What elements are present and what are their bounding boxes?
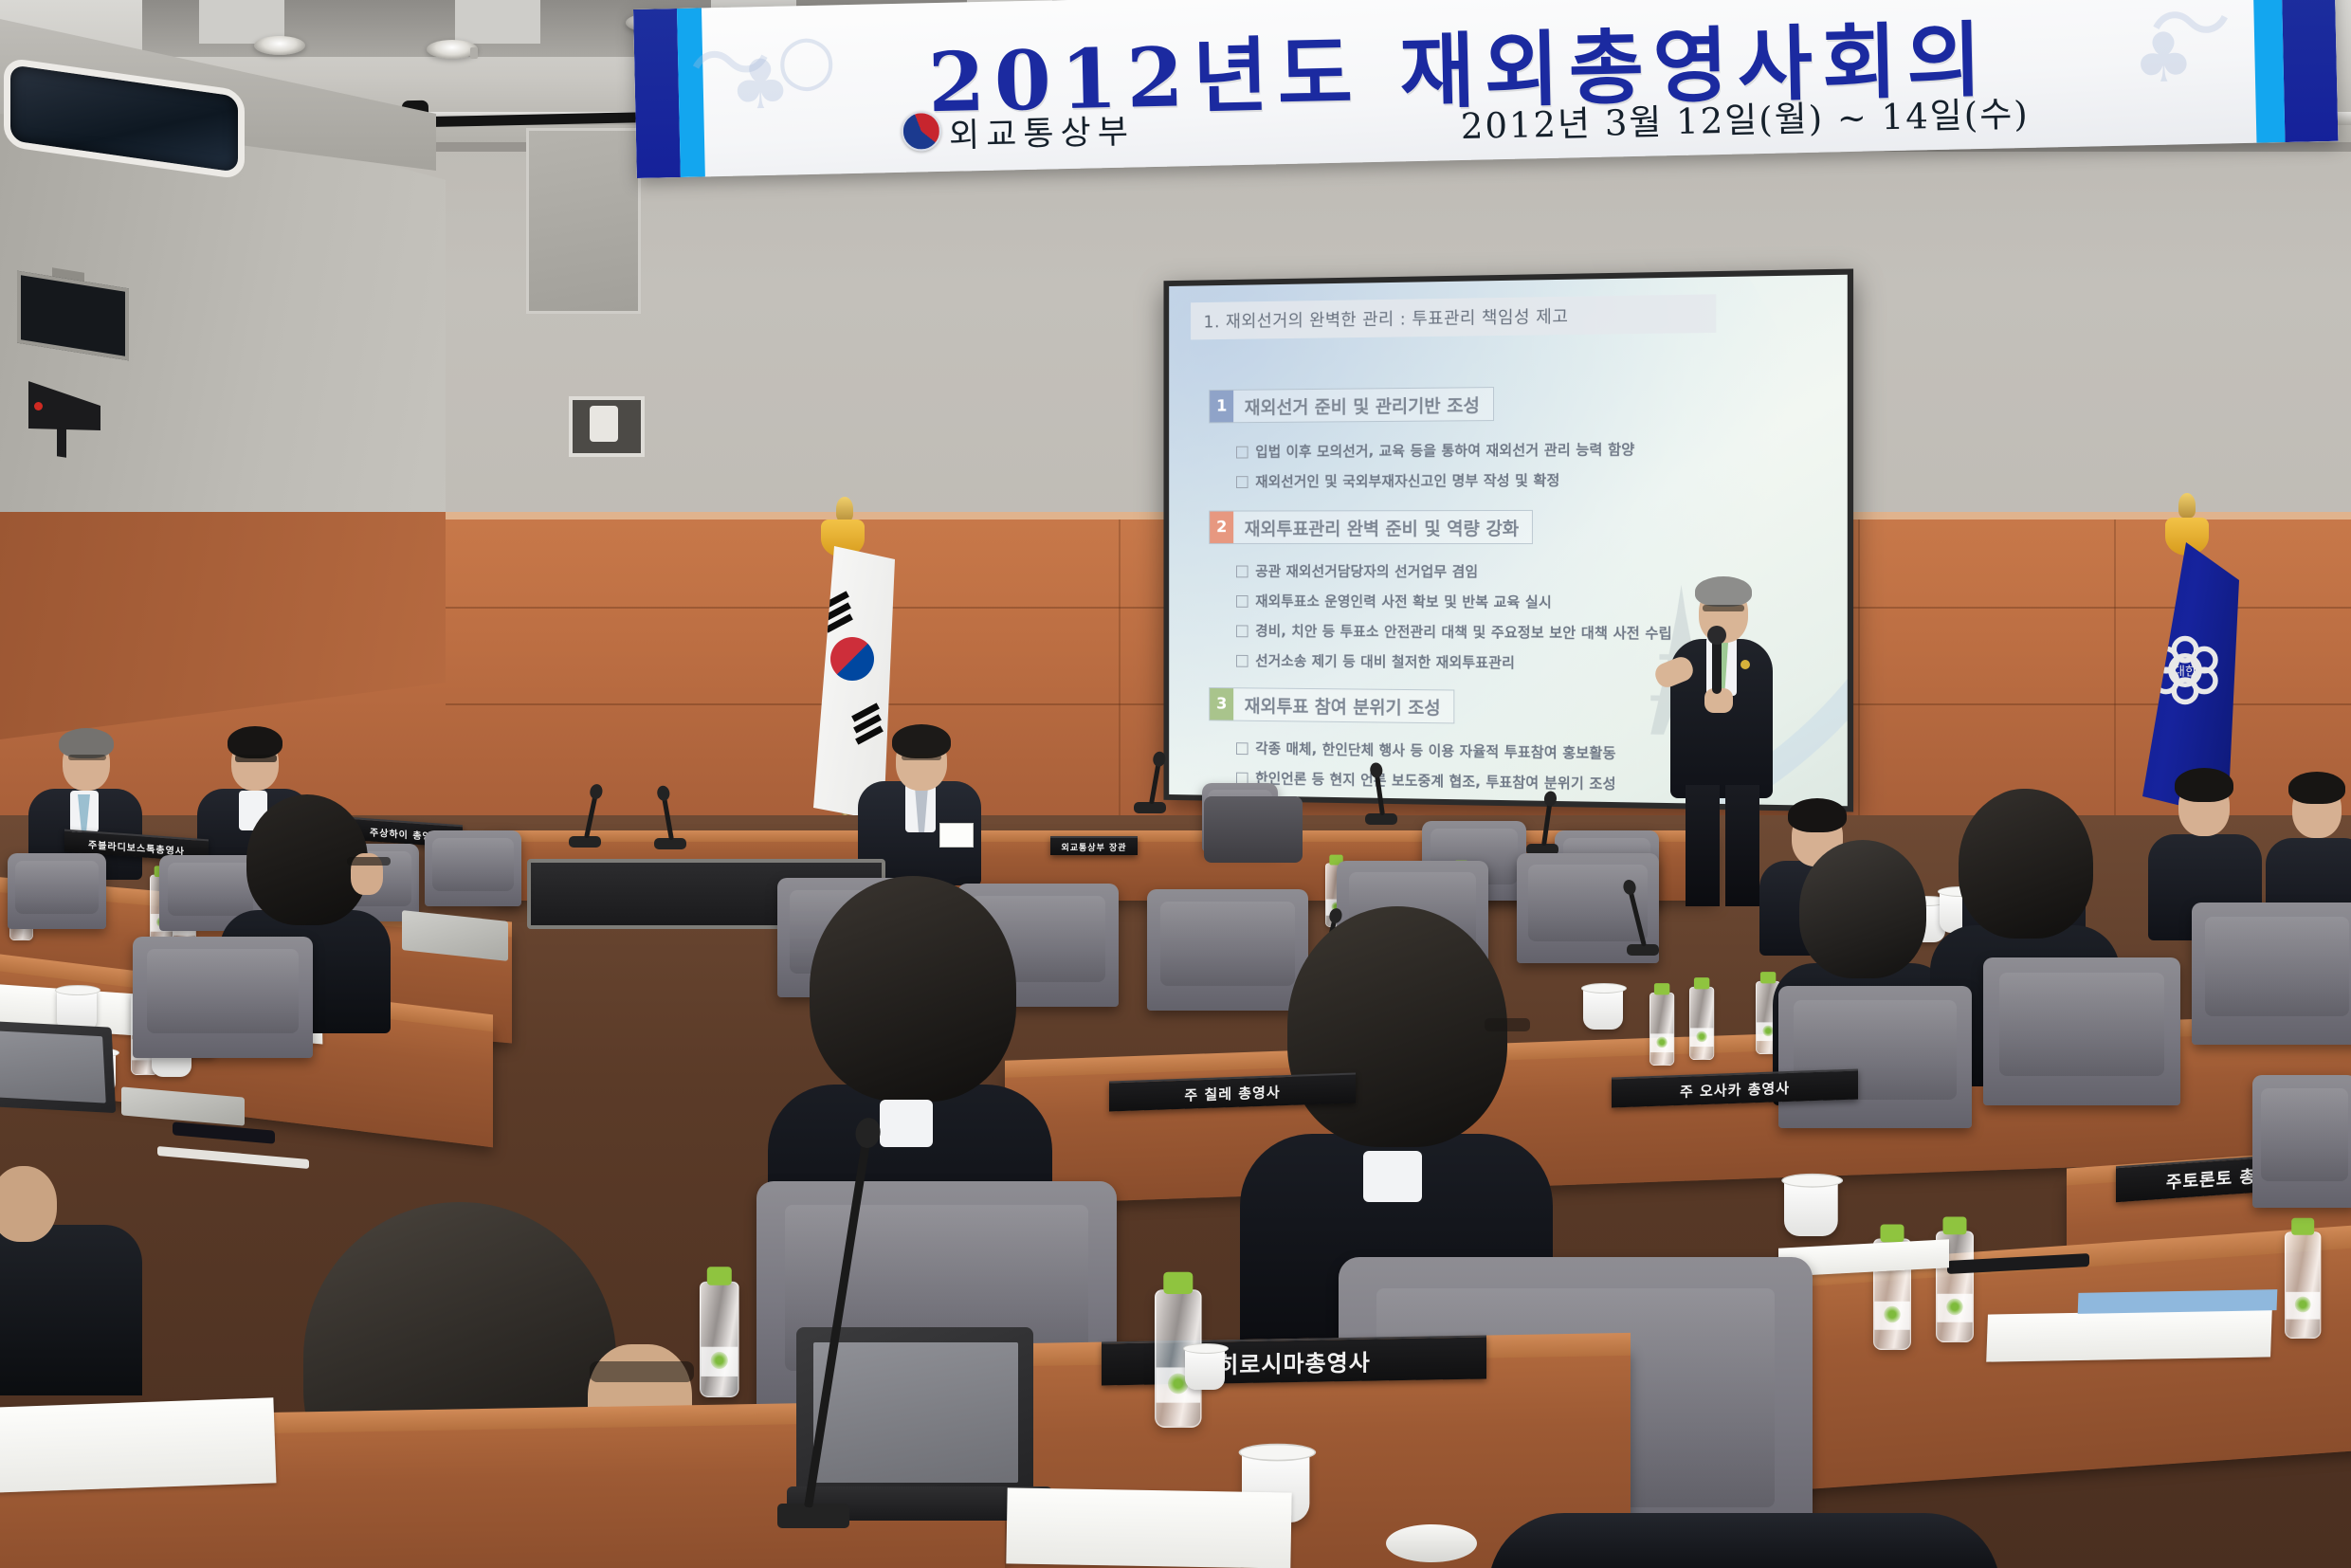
svg-text:대한: 대한	[2174, 664, 2196, 679]
slide-bullet: 공관 재외선거담당자의 선거업무 겸임	[1236, 561, 1478, 581]
ceiling-downlight-icon	[254, 36, 305, 55]
cloud-ornament-icon: ○	[775, 24, 836, 93]
head	[0, 1166, 57, 1242]
slide-section-number: 2	[1210, 512, 1233, 543]
hair	[2175, 768, 2233, 802]
flag-finial-icon	[836, 497, 853, 521]
speaker-glasses-icon	[1703, 605, 1744, 611]
collar	[1363, 1151, 1422, 1202]
glasses-icon	[1485, 1018, 1530, 1031]
hair	[1788, 798, 1847, 832]
lid	[1386, 1524, 1477, 1562]
nameplate-label: 주 오사카 총영사	[1680, 1077, 1790, 1101]
laptop-screen	[0, 1030, 106, 1103]
slide-bullet: 선거소송 제기 등 대비 철저한 재외투표관리	[1236, 650, 1515, 672]
slide-bullet: 재외투표소 운영인력 사전 확보 및 반복 교육 실시	[1236, 591, 1552, 611]
slide-heading: 1. 재외선거의 완벽한 관리 : 투표관리 책임성 제고	[1203, 303, 1568, 333]
banner-stripe-right-light	[2253, 0, 2286, 143]
paper-cup	[1583, 986, 1623, 1030]
slide-section: 2 재외투표관리 완벽 준비 및 역량 강화	[1209, 510, 1533, 544]
chair	[425, 830, 521, 906]
slide-section-title: 재외선거 준비 및 관리기반 조성	[1233, 392, 1493, 419]
name-badge	[939, 823, 974, 848]
highlighted-document	[2078, 1289, 2278, 1314]
delegate-right-3	[2148, 764, 2262, 925]
ceiling-camera-icon	[590, 406, 618, 442]
chair	[2192, 903, 2351, 1045]
chair	[133, 937, 313, 1058]
document-stack	[0, 1397, 276, 1493]
lapel-pin-icon	[1740, 660, 1750, 669]
nameplate-label: 주블라디보스톡총영사	[88, 836, 185, 857]
slide-section-title: 재외투표관리 완벽 준비 및 역량 강화	[1233, 514, 1532, 539]
hair	[810, 876, 1016, 1102]
slide-section-number: 3	[1210, 688, 1233, 720]
slide-section: 1 재외선거 준비 및 관리기반 조성	[1209, 387, 1494, 423]
torso	[1488, 1513, 2000, 1568]
banner-organization: 외교통상부	[948, 104, 1135, 156]
conference-photo: 〜 ♣ ○ 〜 ♣ 2012년도 재외총영사회의 외교통상부 2012년 3월 …	[0, 0, 2351, 1568]
document-stack	[1986, 1309, 2272, 1361]
speaker-mount	[57, 428, 66, 458]
nameplate-head-table: 외교통상부 장관	[1050, 836, 1138, 855]
nameplate-label: 외교통상부 장관	[1061, 841, 1126, 853]
glasses-icon	[590, 1361, 694, 1382]
podium-chair	[1204, 796, 1303, 863]
speaker-led-icon	[34, 402, 43, 410]
collar	[880, 1100, 933, 1147]
water-bottle	[700, 1282, 739, 1397]
document-stack	[1006, 1487, 1291, 1568]
chairman-hair	[892, 724, 951, 758]
nameplate-label: 히로시마총영사	[1217, 1343, 1371, 1379]
delegate-bottom-left-edge	[0, 1149, 142, 1377]
speaker-leg	[1686, 785, 1720, 906]
hair	[1799, 840, 1926, 978]
chair	[8, 853, 106, 929]
hair	[1959, 789, 2093, 939]
chair	[2252, 1075, 2351, 1208]
delegate-bottom-right-corner	[1488, 1513, 2000, 1568]
water-bottle	[2285, 1231, 2321, 1339]
paper-cup	[1185, 1346, 1225, 1390]
banner-stripe-right	[2282, 0, 2339, 142]
water-bottle	[1689, 987, 1714, 1060]
slide-section-number: 1	[1210, 391, 1233, 423]
mic-base	[777, 1504, 849, 1528]
speaker-leg	[1725, 785, 1759, 906]
slide-bullet: 입법 이후 모의선거, 교육 등을 통하여 재외선거 관리 능력 함양	[1236, 439, 1634, 461]
flag-finial-icon	[2178, 493, 2196, 518]
laptop-screen	[813, 1342, 1018, 1483]
chairman	[858, 720, 981, 872]
slide-section-title: 재외투표 참여 분위기 조성	[1233, 692, 1453, 720]
slide-bullet: 경비, 치안 등 투표소 안전관리 대책 및 주요정보 보안 대책 사전 수립	[1236, 621, 1672, 644]
hair	[1287, 906, 1507, 1147]
slide-bullet: 재외선거인 및 국외부재자신고인 명부 작성 및 확정	[1236, 470, 1560, 491]
torso	[0, 1225, 142, 1395]
slide-heading-band: 1. 재외선거의 완벽한 관리 : 투표관리 책임성 제고	[1191, 294, 1716, 339]
hair	[2288, 772, 2345, 804]
glasses-icon	[235, 755, 277, 762]
banner-stripe-left	[633, 9, 681, 178]
slide-section: 3 재외투표 참여 분위기 조성	[1209, 687, 1454, 723]
cloud-ornament-icon: ♣	[2132, 23, 2195, 92]
chairman-glasses-icon	[902, 755, 941, 760]
glasses-icon	[68, 755, 106, 760]
nameplate-label: 주 칠레 총영사	[1184, 1082, 1280, 1105]
chair	[1778, 986, 1972, 1128]
wall-vent-panel-icon	[526, 128, 641, 314]
paper-cup	[1784, 1177, 1838, 1236]
glasses-icon	[347, 857, 391, 866]
speaker-hair	[1695, 576, 1752, 607]
microphone-head-icon	[1707, 626, 1726, 645]
water-bottle	[1649, 993, 1674, 1066]
hair	[228, 726, 282, 758]
chair	[1983, 957, 2180, 1105]
